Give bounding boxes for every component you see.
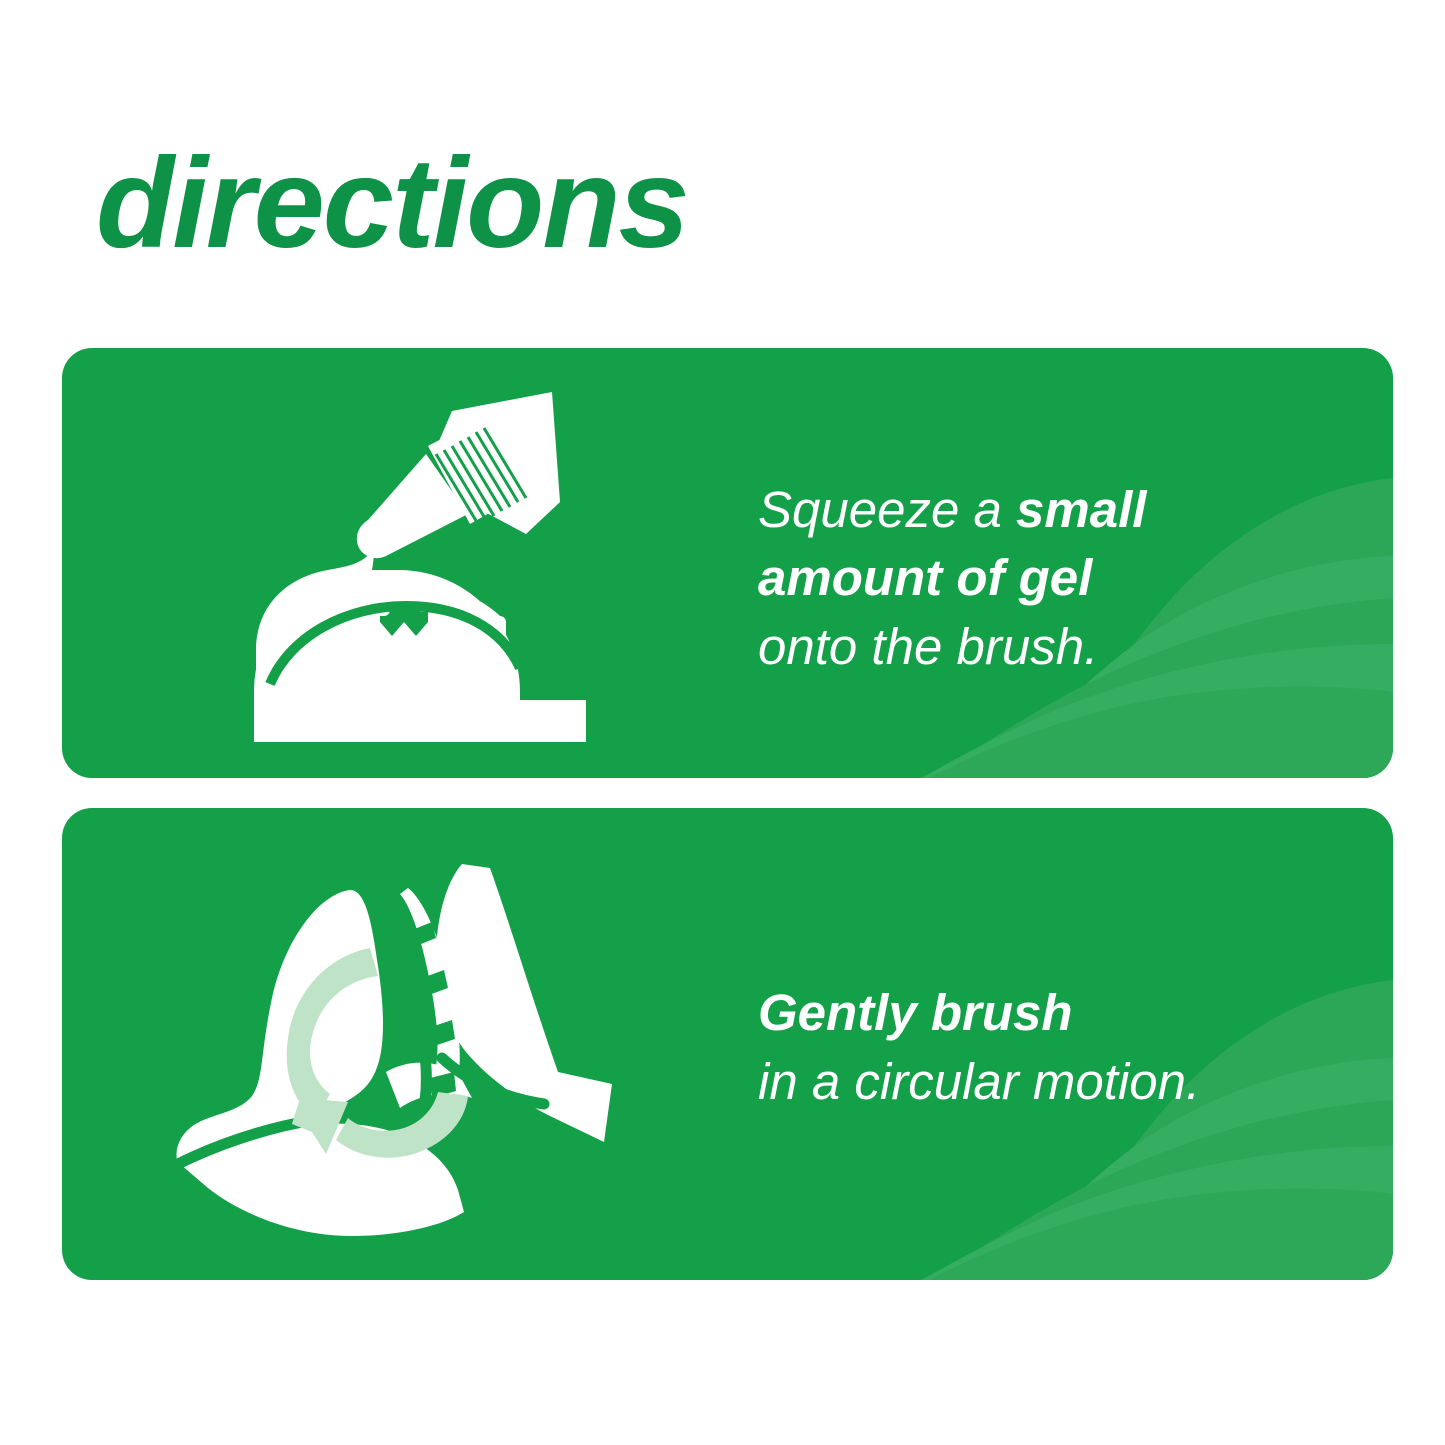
step-2-line-1: Gently brush [758,978,1200,1047]
direction-step-card-2: Gently brush in a circular motion. [62,808,1393,1280]
step-1-line-1-light: Squeeze a [758,481,1016,538]
step-1-text: Squeeze a small amount of gel onto the b… [758,476,1146,681]
step-1-line-1: Squeeze a small [758,476,1146,544]
step-1-line-3: onto the brush. [758,613,1146,681]
gel-tube-squeeze-onto-brush-icon [230,384,590,744]
brush-circular-motion-icon [172,846,652,1246]
direction-step-card-1: Squeeze a small amount of gel onto the b… [62,348,1393,778]
step-2-text: Gently brush in a circular motion. [758,978,1200,1117]
step-1-line-1-bold: small [1016,481,1146,538]
step-1-line-2: amount of gel [758,544,1146,612]
directions-page: directions [0,0,1445,1445]
step-2-line-2: in a circular motion. [758,1047,1200,1116]
page-title: directions [96,140,688,268]
